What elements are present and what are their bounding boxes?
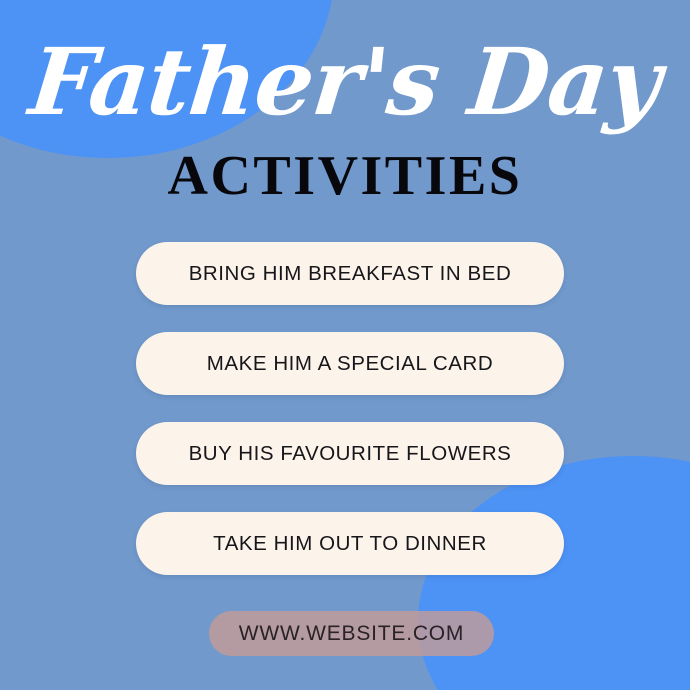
- activity-label: MAKE HIM A SPECIAL CARD: [207, 352, 493, 376]
- activity-label: BRING HIM BREAKFAST IN BED: [189, 262, 512, 286]
- activity-pill-1[interactable]: BRING HIM BREAKFAST IN BED: [136, 242, 564, 305]
- activity-pill-2[interactable]: MAKE HIM A SPECIAL CARD: [136, 332, 564, 395]
- fathers-day-activities-poster: Father's Day ACTIVITIES BRING HIM BREAKF…: [0, 0, 690, 690]
- activity-label: BUY HIS FAVOURITE FLOWERS: [189, 442, 512, 466]
- activity-pill-4[interactable]: TAKE HIM OUT TO DINNER: [136, 512, 564, 575]
- page-subtitle-activities: ACTIVITIES: [0, 148, 690, 204]
- activity-pill-3[interactable]: BUY HIS FAVOURITE FLOWERS: [136, 422, 564, 485]
- website-url-label: WWW.WEBSITE.COM: [239, 622, 464, 646]
- page-title-script: Father's Day: [0, 34, 690, 131]
- activity-pill-list: BRING HIM BREAKFAST IN BED MAKE HIM A SP…: [136, 242, 564, 602]
- website-chip[interactable]: WWW.WEBSITE.COM: [209, 611, 494, 656]
- activity-label: TAKE HIM OUT TO DINNER: [213, 532, 487, 556]
